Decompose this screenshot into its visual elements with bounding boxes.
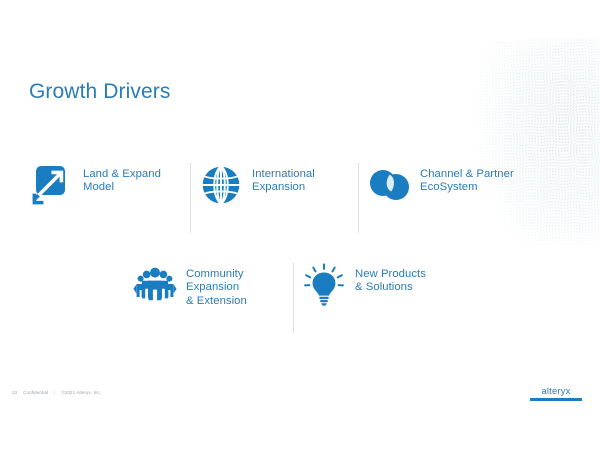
driver-label: International Expansion [252, 163, 315, 195]
venn-circles-icon [367, 163, 411, 207]
driver-land-and-expand[interactable]: Land & Expand Model [30, 163, 182, 207]
alteryx-logo-bar [530, 398, 582, 401]
slide-footer: 23 Confidential | ©2021 Alteryx, Inc. [12, 390, 101, 395]
driver-community-expansion[interactable]: Community Expansion & Extension [133, 263, 285, 308]
driver-label: New Products & Solutions [355, 263, 426, 295]
driver-label: Channel & Partner EcoSystem [420, 163, 514, 195]
slide: Growth Drivers Land & Expand Model [0, 0, 600, 463]
column-divider [190, 163, 191, 233]
confidential-label: Confidential [23, 390, 48, 395]
driver-label: Community Expansion & Extension [186, 263, 247, 308]
alteryx-logo: alteryx [530, 385, 582, 402]
people-group-icon [133, 263, 177, 307]
drivers-row-bottom: Community Expansion & Extension [133, 263, 452, 333]
drivers-row-top: Land & Expand Model [30, 163, 517, 233]
lightbulb-icon [302, 263, 346, 307]
copyright-label: ©2021 Alteryx, Inc. [61, 390, 101, 395]
page-number: 23 [12, 390, 17, 395]
column-divider [358, 163, 359, 233]
globe-icon [199, 163, 243, 207]
driver-international-expansion[interactable]: International Expansion [199, 163, 350, 207]
driver-label: Land & Expand Model [83, 163, 161, 195]
alteryx-wordmark: alteryx [530, 385, 582, 396]
column-divider [293, 263, 294, 333]
footer-separator: | [54, 390, 55, 395]
page-title: Growth Drivers [29, 80, 170, 104]
driver-channel-partner-ecosystem[interactable]: Channel & Partner EcoSystem [367, 163, 517, 207]
arrow-expand-icon [30, 163, 74, 207]
driver-new-products-solutions[interactable]: New Products & Solutions [302, 263, 452, 307]
